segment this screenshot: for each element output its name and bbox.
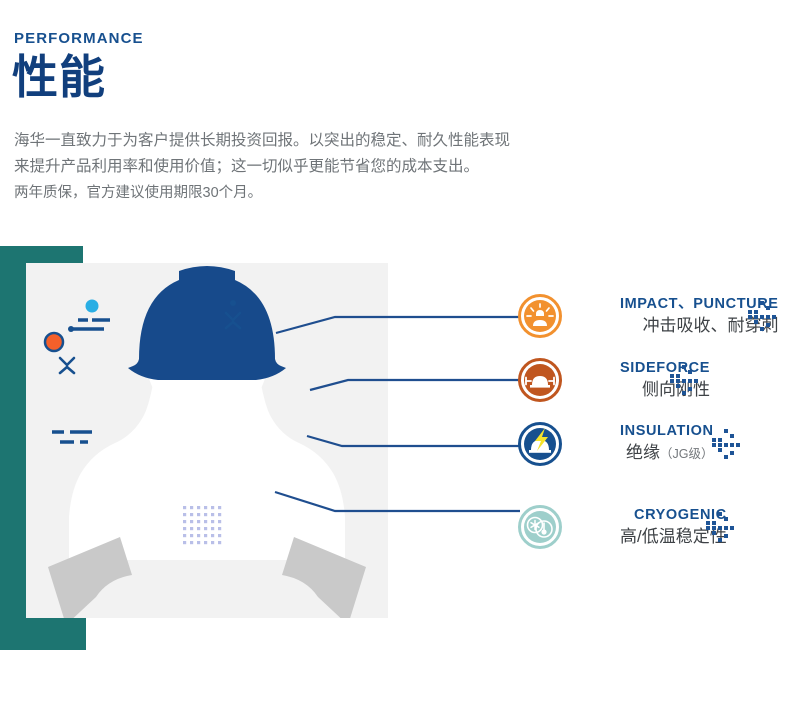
feature-impact-puncture[interactable]: IMPACT、PUNCTURE 冲击吸收、耐穿刺 [518, 294, 779, 338]
sideforce-helmet-icon [518, 358, 562, 402]
impact-person-icon [518, 294, 562, 338]
page-title: 性能 [12, 52, 106, 103]
dot-fan-decor-4 [704, 510, 738, 544]
connector-3 [307, 436, 520, 446]
feature-title-zh: 绝缘（JG级） [620, 442, 714, 465]
feature-title-zh-main: 绝缘 [626, 443, 660, 462]
insulation-bolt-icon [518, 422, 562, 466]
paragraph-line-2: 来提升产品利用率和使用价值；这一切似乎更能节省您的成本支出。 [14, 154, 634, 180]
section-paragraph: 海华一直致力于为客户提供长期投资回报。以突出的稳定、耐久性能表现 来提升产品利用… [14, 128, 634, 206]
paragraph-line-1: 海华一直致力于为客户提供长期投资回报。以突出的稳定、耐久性能表现 [14, 128, 634, 154]
feature-label-group: INSULATION 绝缘（JG级） [620, 423, 714, 465]
connector-2 [310, 380, 520, 390]
section-eyebrow: PERFORMANCE [14, 30, 144, 47]
cryogenic-snowflake-icon [518, 505, 562, 549]
dot-fan-decor-3 [710, 427, 744, 461]
feature-title-en: INSULATION [620, 423, 714, 440]
performance-section: PERFORMANCE 性能 海华一直致力于为客户提供长期投资回报。以突出的稳定… [0, 0, 790, 715]
feature-cryogenic[interactable]: CRYOGENIC 高/低温稳定性 [518, 505, 727, 549]
connector-1 [276, 317, 520, 333]
dot-fan-decor-1 [746, 299, 780, 333]
connector-4 [275, 492, 520, 511]
dot-fan-decor-2 [668, 363, 702, 397]
feature-insulation[interactable]: INSULATION 绝缘（JG级） [518, 422, 714, 466]
teal-bracket-foot [0, 613, 86, 650]
paragraph-line-3: 两年质保，官方建议使用期限30个月。 [14, 180, 634, 206]
feature-sideforce[interactable]: SIDEFORCE 侧向刚性 [518, 358, 710, 402]
feature-title-zh-sub: （JG级） [660, 447, 713, 461]
